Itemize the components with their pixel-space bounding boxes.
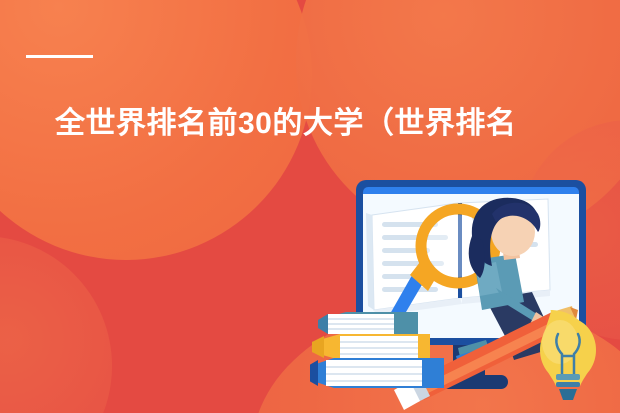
title-accent-rule bbox=[26, 55, 93, 58]
page-title: 全世界排名前30的大学（世界排名 bbox=[55, 105, 620, 143]
background-circle-bottom-left bbox=[0, 236, 112, 413]
online-research-illustration bbox=[310, 170, 620, 413]
lightbulb-icon bbox=[540, 310, 596, 400]
banner-card: 全世界排名前30的大学（世界排名 bbox=[0, 0, 620, 413]
